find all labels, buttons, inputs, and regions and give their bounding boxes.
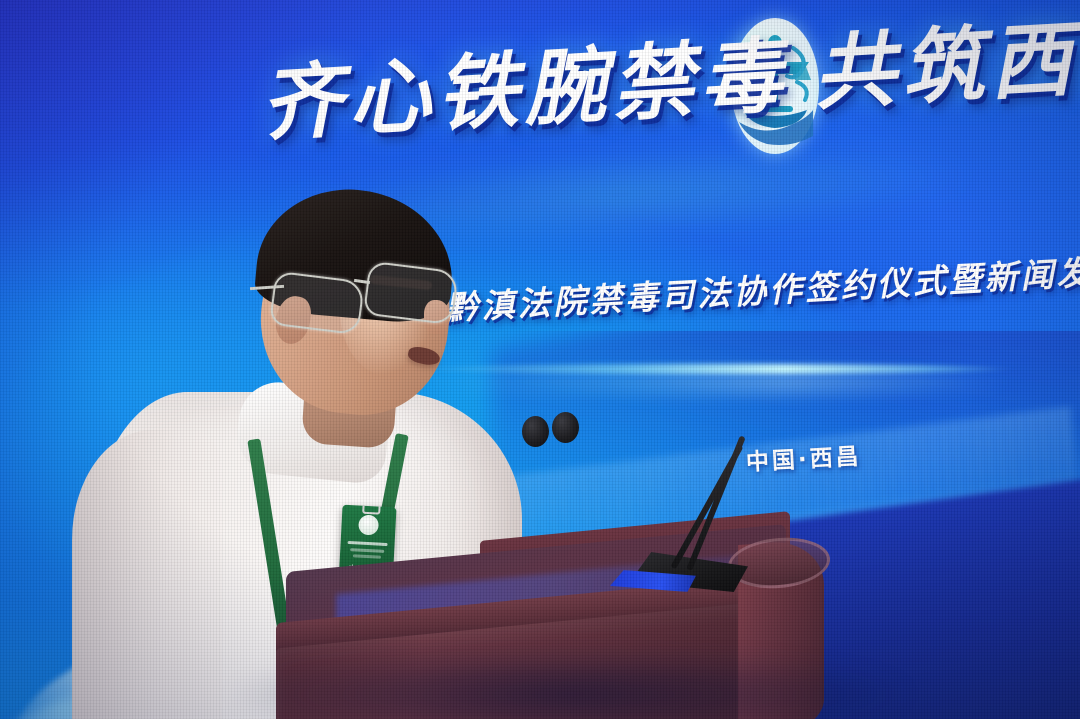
podium-floor-shadow [230, 649, 910, 719]
speaker-glasses [266, 258, 476, 336]
gooseneck-microphone-pair [500, 404, 800, 634]
speaker-shoulder-left [72, 430, 222, 719]
glasses-lens-left [269, 271, 365, 336]
badge-clip [362, 505, 381, 515]
microphone-head [522, 416, 549, 447]
glasses-lens-right [363, 261, 459, 326]
microphone-head [552, 412, 579, 443]
headline-spacer [789, 102, 815, 103]
photo-canvas: 齐心铁腕禁毒共筑西南防线 川渝黔滇法院禁毒司法协作签约仪式暨新闻发布会 中国·西… [0, 0, 1080, 719]
microphone-stem [686, 435, 746, 571]
